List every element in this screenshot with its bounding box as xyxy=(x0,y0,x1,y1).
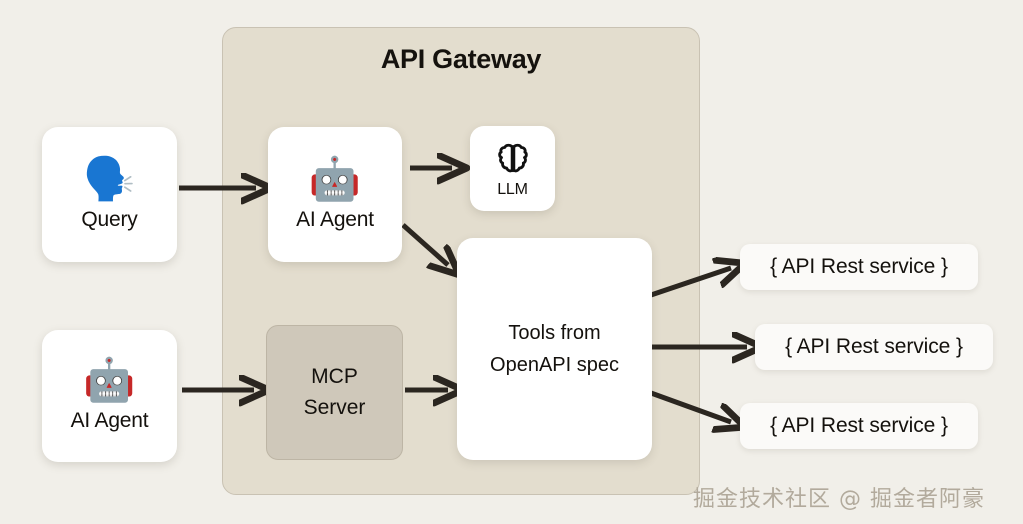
node-ai-agent-top-label: AI Agent xyxy=(296,208,374,232)
node-tools-line1: Tools from xyxy=(508,317,600,349)
node-mcp-server-line1: MCP xyxy=(311,362,358,392)
node-mcp-server[interactable]: MCP Server xyxy=(266,325,403,460)
node-ai-agent-top[interactable]: 🤖 AI Agent xyxy=(268,127,402,262)
diagram-canvas: API Gateway 🗣️ Query 🤖 AI Agent xyxy=(0,0,1023,524)
node-tools-line2: OpenAPI spec xyxy=(490,349,619,381)
speaking-head-icon: 🗣️ xyxy=(83,158,135,200)
node-query-label: Query xyxy=(81,208,137,232)
node-api-rest-service-3[interactable]: { API Rest service } xyxy=(740,403,978,449)
robot-icon: 🤖 xyxy=(83,359,135,401)
node-llm[interactable]: LLM xyxy=(470,126,555,211)
node-query[interactable]: 🗣️ Query xyxy=(42,127,177,262)
node-ai-agent-bottom[interactable]: 🤖 AI Agent xyxy=(42,330,177,462)
brain-icon xyxy=(493,139,533,179)
watermark-text: 掘金技术社区 @ 掘金者阿豪 xyxy=(693,481,985,513)
node-llm-label: LLM xyxy=(497,181,528,199)
node-ai-agent-bottom-label: AI Agent xyxy=(71,409,149,433)
node-tools-openapi[interactable]: Tools from OpenAPI spec xyxy=(457,238,652,460)
node-mcp-server-line2: Server xyxy=(304,393,366,423)
node-api-rest-service-2[interactable]: { API Rest service } xyxy=(755,324,993,370)
node-api-rest-service-1[interactable]: { API Rest service } xyxy=(740,244,978,290)
robot-icon: 🤖 xyxy=(309,158,361,200)
api-gateway-title: API Gateway xyxy=(222,44,700,75)
